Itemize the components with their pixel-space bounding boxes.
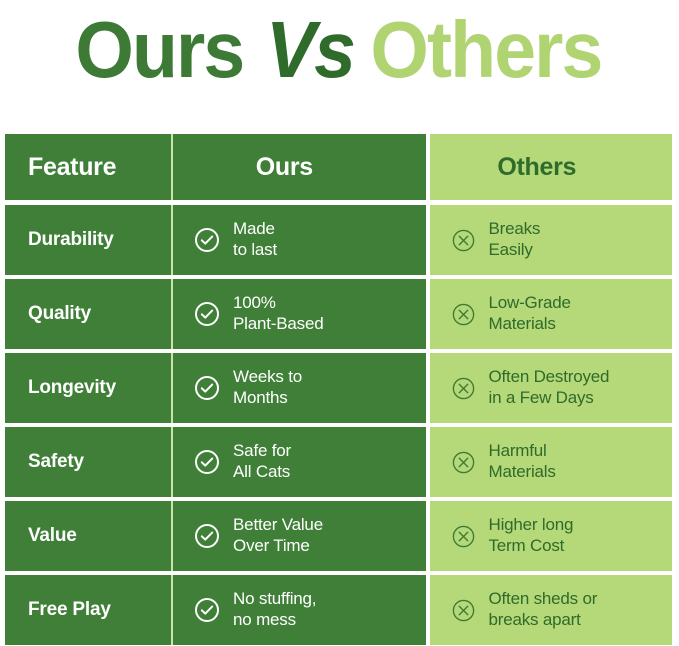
ours-cell: Weeks to Months — [171, 353, 425, 423]
others-line-1: Higher long — [489, 515, 574, 536]
ours-item: Safe for All Cats — [194, 441, 291, 482]
ours-cell: Made to last — [171, 205, 425, 275]
others-cell: Breaks Easily — [430, 205, 673, 275]
table-row: Free Play No stuffing, no mess — [5, 575, 672, 645]
ours-line-2: Plant-Based — [233, 314, 323, 335]
feature-label: Value — [28, 525, 77, 547]
ours-cell: Safe for All Cats — [171, 427, 425, 497]
x-circle-icon — [451, 524, 476, 549]
header-cell-feature: Feature — [5, 134, 171, 200]
others-item: Harmful Materials — [451, 441, 556, 482]
others-cell: Often sheds or breaks apart — [430, 575, 673, 645]
ours-text: No stuffing, no mess — [233, 589, 316, 630]
feature-cell: Safety — [5, 427, 171, 497]
feature-cell: Durability — [5, 205, 171, 275]
ours-text: Weeks to Months — [233, 367, 302, 408]
header-label-ours: Ours — [256, 153, 313, 182]
ours-line-1: Made — [233, 219, 277, 240]
others-text: Breaks Easily — [489, 219, 541, 260]
header-cell-others: Others — [430, 134, 672, 200]
ours-item: Weeks to Months — [194, 367, 302, 408]
header-cell-ours: Ours — [171, 134, 425, 200]
header-label-others: Others — [497, 153, 576, 182]
x-circle-icon — [451, 376, 476, 401]
title-word-ours: Ours — [76, 10, 244, 90]
feature-label: Longevity — [28, 377, 116, 399]
others-text: Often sheds or breaks apart — [489, 589, 598, 630]
others-line-1: Often sheds or — [489, 589, 598, 610]
ours-line-2: All Cats — [233, 462, 291, 483]
check-circle-icon — [194, 523, 220, 549]
table-row: Longevity Weeks to Months — [5, 353, 672, 423]
check-circle-icon — [194, 449, 220, 475]
feature-label: Safety — [28, 451, 84, 473]
feature-cell: Free Play — [5, 575, 171, 645]
others-item: Breaks Easily — [451, 219, 541, 260]
ours-item: Made to last — [194, 219, 277, 260]
others-line-2: Materials — [489, 314, 571, 335]
feature-label: Free Play — [28, 599, 111, 621]
others-item: Low-Grade Materials — [451, 293, 571, 334]
others-cell: Harmful Materials — [430, 427, 673, 497]
feature-cell: Quality — [5, 279, 171, 349]
others-line-1: Harmful — [489, 441, 556, 462]
check-circle-icon — [194, 227, 220, 253]
comparison-table: Feature Ours Others Durability — [5, 134, 672, 645]
ours-text: 100% Plant-Based — [233, 293, 323, 334]
ours-line-2: no mess — [233, 610, 316, 631]
ours-line-2: to last — [233, 240, 277, 261]
check-circle-icon — [194, 301, 220, 327]
ours-cell: No stuffing, no mess — [171, 575, 425, 645]
ours-line-1: Weeks to — [233, 367, 302, 388]
comparison-infographic: Ours Vs Others Feature Ours Others Durab… — [0, 0, 679, 646]
others-line-2: Term Cost — [489, 536, 574, 557]
header-label-feature: Feature — [28, 153, 116, 182]
table-row: Quality 100% Plant-Based — [5, 279, 672, 349]
ours-line-1: Safe for — [233, 441, 291, 462]
table-row: Durability Made to last — [5, 205, 672, 275]
table-row: Value Better Value Over Time — [5, 501, 672, 571]
title-word-others: Others — [370, 10, 601, 90]
table-row: Safety Safe for All Cats — [5, 427, 672, 497]
title-word-vs: Vs — [266, 10, 354, 90]
others-line-2: in a Few Days — [489, 388, 610, 409]
feature-label: Quality — [28, 303, 91, 325]
feature-cell: Value — [5, 501, 171, 571]
others-cell: Higher long Term Cost — [430, 501, 673, 571]
others-line-1: Breaks — [489, 219, 541, 240]
others-line-2: Materials — [489, 462, 556, 483]
others-text: Low-Grade Materials — [489, 293, 571, 334]
ours-item: No stuffing, no mess — [194, 589, 316, 630]
table-header-row: Feature Ours Others — [5, 134, 672, 200]
ours-item: 100% Plant-Based — [194, 293, 323, 334]
x-circle-icon — [451, 228, 476, 253]
ours-cell: Better Value Over Time — [171, 501, 425, 571]
others-item: Higher long Term Cost — [451, 515, 574, 556]
others-cell: Often Destroyed in a Few Days — [430, 353, 673, 423]
x-circle-icon — [451, 450, 476, 475]
others-line-2: Easily — [489, 240, 541, 261]
ours-cell: 100% Plant-Based — [171, 279, 425, 349]
page-title: Ours Vs Others — [0, 2, 679, 98]
ours-text: Better Value Over Time — [233, 515, 323, 556]
check-circle-icon — [194, 597, 220, 623]
ours-line-2: Months — [233, 388, 302, 409]
others-item: Often sheds or breaks apart — [451, 589, 598, 630]
x-circle-icon — [451, 302, 476, 327]
ours-line-1: 100% — [233, 293, 323, 314]
ours-line-2: Over Time — [233, 536, 323, 557]
others-item: Often Destroyed in a Few Days — [451, 367, 610, 408]
others-line-2: breaks apart — [489, 610, 598, 631]
others-text: Higher long Term Cost — [489, 515, 574, 556]
check-circle-icon — [194, 375, 220, 401]
ours-text: Made to last — [233, 219, 277, 260]
ours-item: Better Value Over Time — [194, 515, 323, 556]
ours-line-1: No stuffing, — [233, 589, 316, 610]
others-cell: Low-Grade Materials — [430, 279, 673, 349]
feature-cell: Longevity — [5, 353, 171, 423]
x-circle-icon — [451, 598, 476, 623]
others-line-1: Low-Grade — [489, 293, 571, 314]
others-text: Often Destroyed in a Few Days — [489, 367, 610, 408]
others-text: Harmful Materials — [489, 441, 556, 482]
feature-label: Durability — [28, 229, 114, 251]
ours-text: Safe for All Cats — [233, 441, 291, 482]
others-line-1: Often Destroyed — [489, 367, 610, 388]
ours-line-1: Better Value — [233, 515, 323, 536]
